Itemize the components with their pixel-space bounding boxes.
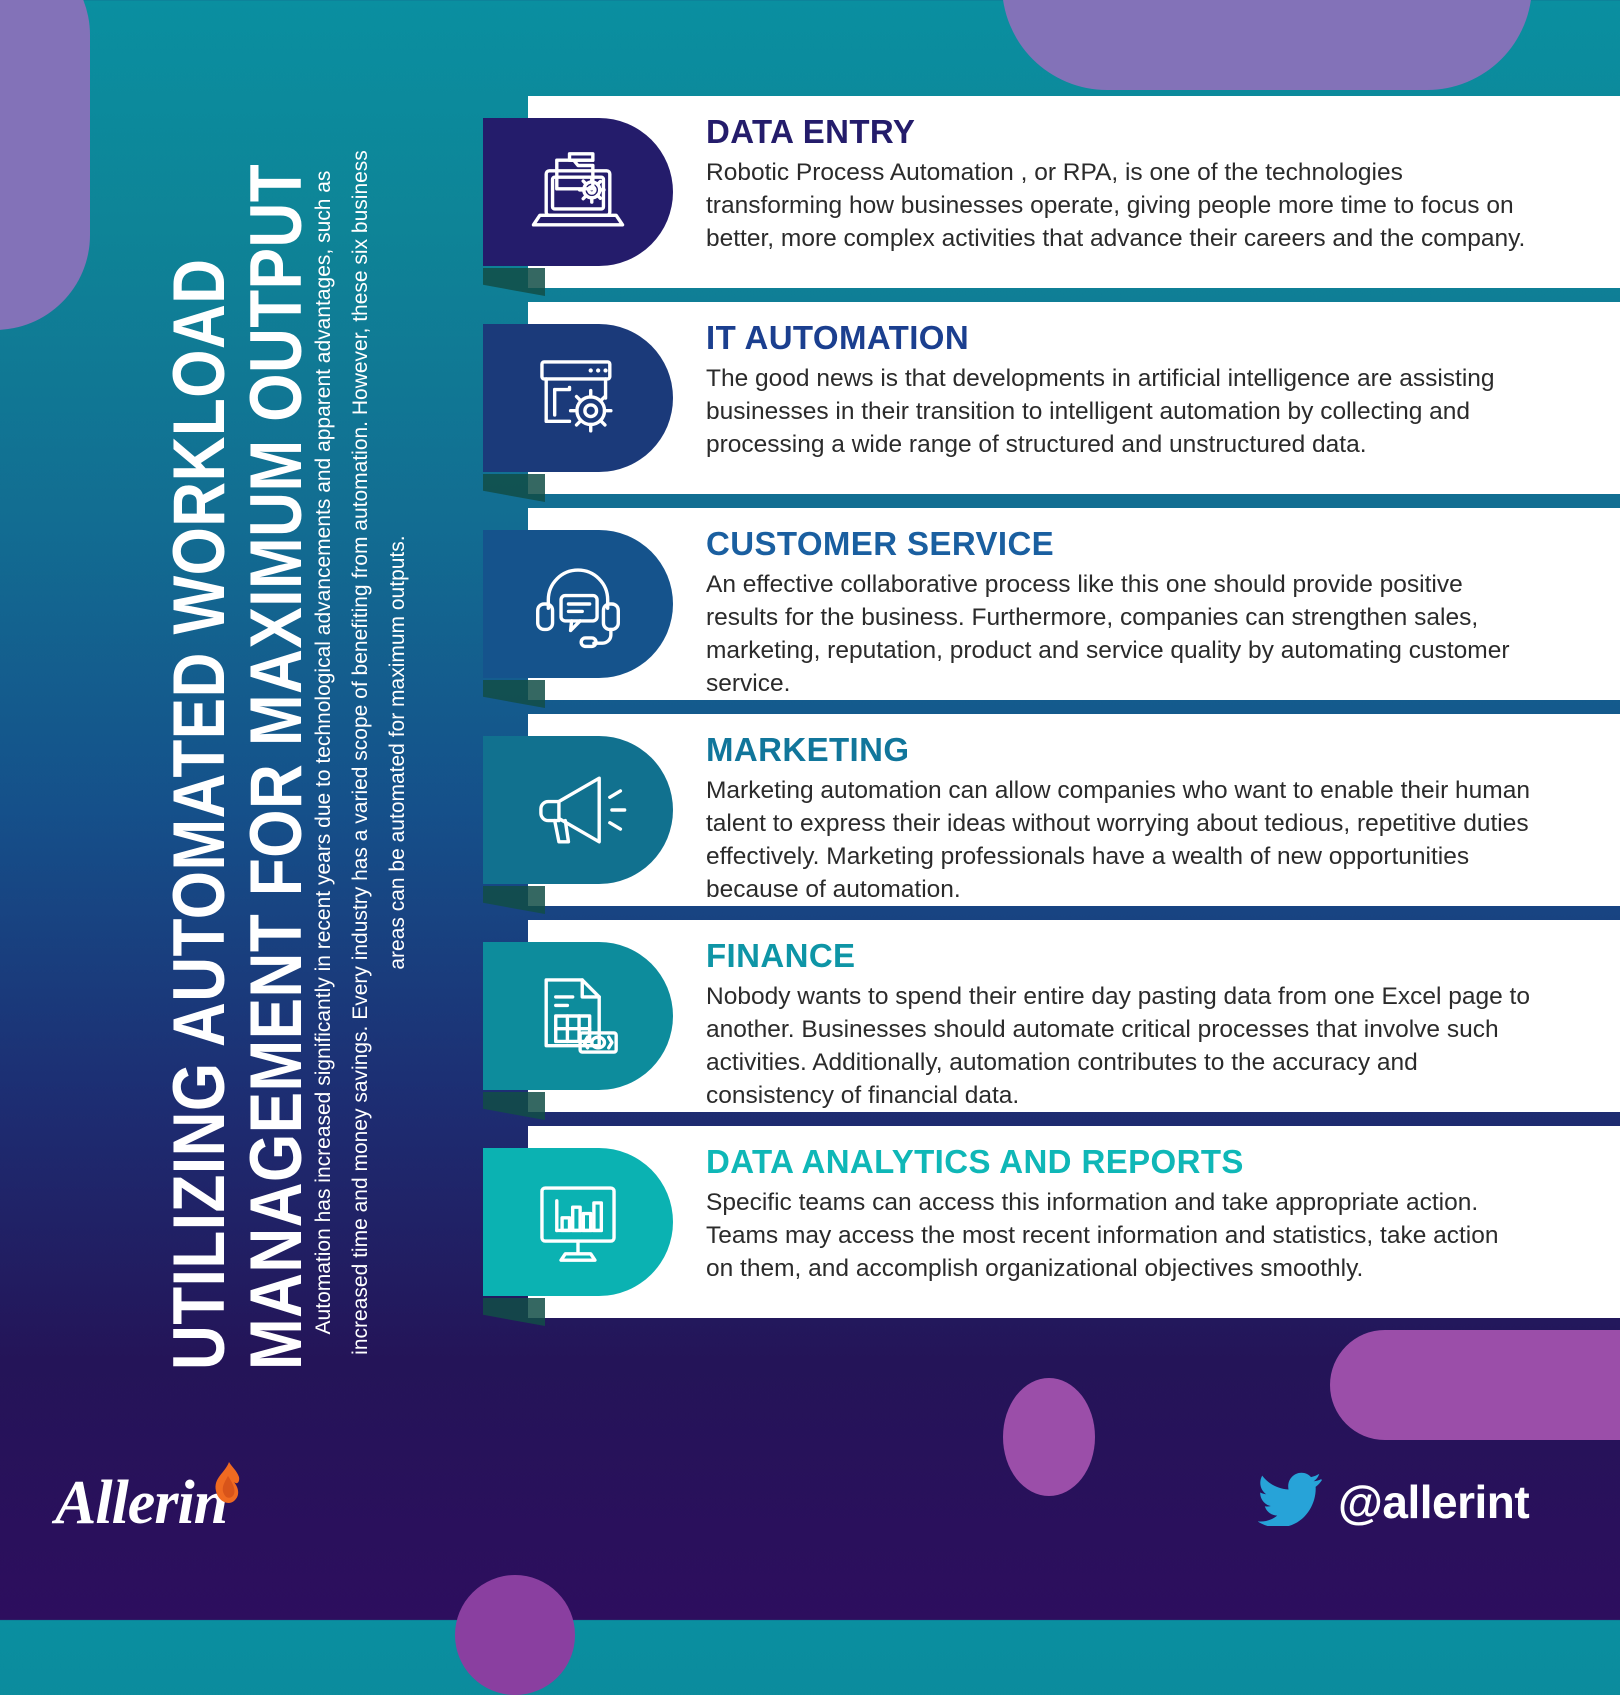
badge-shadow	[483, 268, 545, 296]
card-description-data-analytics: Specific teams can access this informati…	[706, 1186, 1530, 1285]
card-customer-service: CUSTOMER SERVICE An effective collaborat…	[528, 508, 1620, 700]
card-it-automation: IT AUTOMATION The good news is that deve…	[528, 302, 1620, 494]
decorative-shape-bottom-right	[1330, 1330, 1620, 1440]
card-title-data-entry: DATA ENTRY	[706, 114, 1530, 150]
card-description-customer-service: An effective collaborative process like …	[706, 568, 1530, 700]
twitter-handle-text: @allerint	[1338, 1475, 1529, 1529]
decorative-shape-top-right	[1002, 0, 1532, 90]
decorative-ellipse-bottom	[1003, 1378, 1095, 1496]
card-title-marketing: MARKETING	[706, 732, 1530, 768]
monitor-bar-chart-icon	[525, 1169, 631, 1275]
icon-badge-data-analytics	[483, 1148, 673, 1296]
icon-badge-data-entry	[483, 118, 673, 266]
icon-badge-finance	[483, 942, 673, 1090]
card-title-customer-service: CUSTOMER SERVICE	[706, 526, 1530, 562]
icon-badge-marketing	[483, 736, 673, 884]
card-data-analytics: DATA ANALYTICS AND REPORTS Specific team…	[528, 1126, 1620, 1318]
brand-logo-text: Allerin	[55, 1469, 227, 1537]
twitter-handle-block[interactable]: @allerint	[1258, 1472, 1529, 1531]
card-finance: FINANCE Nobody wants to spend their enti…	[528, 920, 1620, 1112]
icon-badge-it-automation	[483, 324, 673, 472]
badge-shadow	[483, 1298, 545, 1326]
title-column: UTILIZING AUTOMATED WORKLOAD MANAGEMENT …	[120, 70, 420, 1370]
brand-logo: Allerin	[55, 1468, 227, 1539]
card-description-finance: Nobody wants to spend their entire day p…	[706, 980, 1530, 1112]
headset-chat-icon	[525, 551, 631, 657]
card-description-marketing: Marketing automation can allow companies…	[706, 774, 1530, 906]
lead-paragraph-wrapper: Automation has increased significantly i…	[305, 140, 415, 1365]
card-data-entry: DATA ENTRY Robotic Process Automation , …	[528, 96, 1620, 288]
page-title-line-1: UTILIZING AUTOMATED WORKLOAD	[158, 258, 242, 1370]
megaphone-icon	[525, 757, 631, 863]
badge-shadow	[483, 886, 545, 914]
card-title-it-automation: IT AUTOMATION	[706, 320, 1530, 356]
lead-paragraph: Automation has increased significantly i…	[305, 140, 416, 1365]
card-description-it-automation: The good news is that developments in ar…	[706, 362, 1530, 461]
laptop-document-gear-icon	[525, 139, 631, 245]
icon-badge-customer-service	[483, 530, 673, 678]
card-marketing: MARKETING Marketing automation can allow…	[528, 714, 1620, 906]
flame-icon	[207, 1460, 247, 1517]
card-description-data-entry: Robotic Process Automation , or RPA, is …	[706, 156, 1530, 255]
decorative-shape-top-left	[0, 0, 90, 330]
browser-window-gear-icon	[525, 345, 631, 451]
badge-shadow	[483, 680, 545, 708]
twitter-bird-icon	[1258, 1472, 1322, 1531]
decorative-circle-bottom-left	[455, 1575, 575, 1695]
invoice-banknote-icon	[525, 963, 631, 1069]
card-title-finance: FINANCE	[706, 938, 1530, 974]
badge-shadow	[483, 1092, 545, 1120]
badge-shadow	[483, 474, 545, 502]
card-title-data-analytics: DATA ANALYTICS AND REPORTS	[706, 1144, 1530, 1180]
